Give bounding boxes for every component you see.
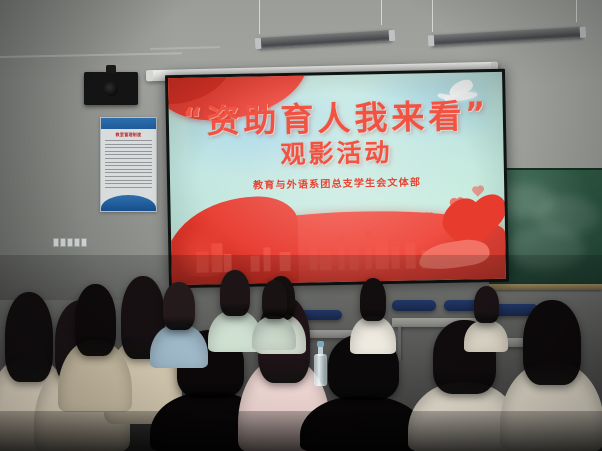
heart-icon (472, 187, 482, 197)
speaker-mount (106, 65, 116, 73)
poster-title-line1-text: 资助育人我来看 (206, 96, 466, 140)
person-shoulders (150, 324, 208, 368)
skyline-building (365, 232, 372, 269)
projected-poster: “资助育人我来看” 观影活动 教育与外语系团总支学生会文体部 (168, 72, 506, 285)
person-hair (163, 282, 195, 330)
notice-title: 教室管理制度 (101, 132, 156, 138)
floor-shadow (0, 411, 602, 451)
notice-footer-bar (101, 195, 156, 211)
projection-screen[interactable]: “资助育人我来看” 观影活动 教育与外语系团总支学生会文体部 (165, 69, 509, 288)
plastic-water-bottle[interactable] (314, 344, 327, 386)
student-row2-e (252, 280, 296, 350)
chair-right-1[interactable] (392, 300, 436, 311)
student-row2-a (150, 282, 208, 368)
skyline-building (338, 237, 345, 270)
light-wire (576, 0, 577, 22)
person-shoulders (464, 320, 508, 352)
skyline-building (263, 247, 270, 271)
skyline-building (392, 247, 400, 269)
person-hair (360, 278, 386, 321)
person-hair (262, 280, 287, 319)
poster-text-block: “资助育人我来看” 观影活动 教育与外语系团总支学生会文体部 (169, 99, 505, 193)
poster-subtitle: 教育与外语系团总支学生会文体部 (170, 172, 504, 193)
classroom-photo: 教室管理制度 (0, 0, 602, 451)
student-row2-d (350, 278, 396, 354)
skyline-building (309, 244, 318, 271)
quote-close: ” (465, 96, 489, 131)
student-row2-f (464, 286, 508, 352)
poster-title-line1: “资助育人我来看” (169, 99, 504, 138)
person-shoulders (252, 316, 296, 350)
skyline-building (280, 252, 291, 270)
skyline-building (320, 250, 332, 270)
skyline-building (405, 243, 416, 269)
person-hair (220, 270, 250, 316)
hand-holding-heart-icon (418, 209, 499, 273)
student-back-left-4 (58, 284, 132, 412)
notice-header-bar (101, 118, 156, 129)
person-hair (523, 300, 581, 385)
quote-open: “ (182, 101, 206, 136)
chalk-smudge (507, 226, 585, 270)
person-hair (474, 286, 499, 323)
wall-notice-board[interactable]: 教室管理制度 (100, 117, 157, 212)
wall-socket-panel[interactable] (53, 238, 87, 247)
wall-speaker (84, 72, 138, 105)
notice-body-lines (105, 140, 152, 193)
light-wire (259, 0, 260, 34)
skyline-building (349, 246, 359, 269)
red-blossom-tree-icon (174, 222, 232, 277)
skyline-building (250, 256, 260, 272)
poster-title-line2: 观影活动 (169, 138, 503, 169)
light-wire (432, 0, 433, 32)
person-hair (75, 284, 116, 356)
light-wire (381, 0, 382, 25)
speaker-cone (104, 82, 118, 96)
person-shoulders (350, 316, 396, 354)
skyline-building (376, 240, 389, 269)
